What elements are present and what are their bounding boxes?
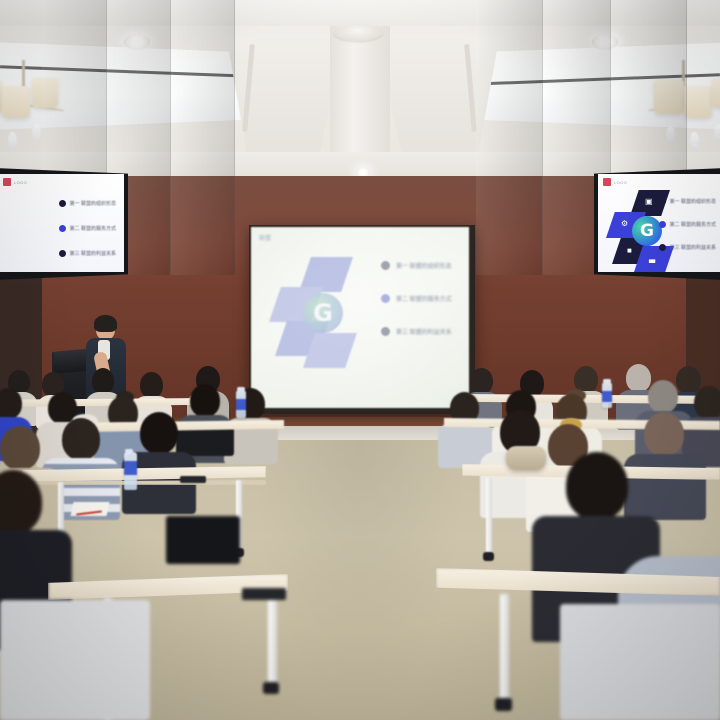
bullet-dot-icon	[659, 198, 666, 205]
slide-left-bullet-3: 第三 联盟的利益关系	[59, 250, 116, 257]
bullet-dot-icon	[59, 225, 66, 232]
conference-hall-photo: LOGO 第一 联盟的组织形态 第二 联盟的服务方式 第三 联盟的利益关系	[0, 0, 720, 720]
chandelier-crystal-l3	[32, 124, 41, 140]
desk-caster	[495, 698, 512, 711]
bottle-label	[602, 391, 612, 402]
slide-right-bullet-1: 第一 联盟的组织形态	[659, 198, 716, 205]
slide-left-logo-text: LOGO	[14, 180, 27, 185]
slide-left-bullet-2-text: 第二 联盟的服务方式	[70, 225, 116, 232]
bullet-dot-icon	[381, 261, 390, 270]
attendee-head	[62, 418, 100, 460]
chair-panel	[560, 604, 720, 720]
bullet-dot-icon	[381, 294, 390, 303]
chandelier-crystal-r2	[690, 132, 699, 148]
chandelier-crystal-l2	[8, 132, 17, 148]
presenter-hair	[94, 315, 117, 332]
desk-leg	[268, 592, 277, 688]
projection-hexagon-top	[299, 257, 353, 292]
water-bottle	[124, 452, 137, 490]
slide-right-logo: LOGO	[603, 178, 627, 186]
lock-icon: ■	[627, 247, 632, 255]
bullet-dot-icon	[659, 244, 666, 251]
slide-right-bullet-2: 第二 联盟的服务方式	[659, 221, 716, 228]
slide-right-bullet-2-text: 第二 联盟的服务方式	[670, 221, 716, 228]
projection-brand-g-logo: G	[303, 293, 343, 333]
projection-bullet-1: 第一 联盟的组织形态	[381, 261, 452, 270]
attendee-head	[648, 380, 678, 413]
projection-slide-title: 联盟	[259, 233, 271, 242]
desk-caster	[483, 552, 494, 561]
attendee-head	[0, 388, 22, 419]
water-bottle	[236, 390, 246, 418]
bar-chart-icon: ▃	[649, 255, 655, 263]
slide-right: LOGO ▣ ⚙ ■ ▃ G	[598, 174, 720, 272]
slide-left: LOGO 第一 联盟的组织形态 第二 联盟的服务方式 第三 联盟的利益关系	[0, 174, 124, 272]
attendee-head	[626, 364, 651, 392]
logo-mark-icon	[3, 178, 11, 186]
display-right[interactable]: LOGO ▣ ⚙ ■ ▃ G	[594, 168, 720, 280]
slide-left-bullet-3-text: 第三 联盟的利益关系	[70, 250, 116, 257]
attendee-head	[190, 384, 220, 417]
slide-right-bullet-1-text: 第一 联盟的组织形态	[670, 198, 716, 205]
chair-back	[166, 516, 240, 564]
attendee-torso	[624, 454, 706, 520]
attendee-head	[92, 368, 114, 394]
slide-left-logo: LOGO	[3, 178, 27, 186]
bullet-dot-icon	[659, 221, 666, 228]
slide-right-logo-text: LOGO	[614, 180, 627, 185]
attendee-head	[644, 412, 684, 456]
slide-left-bullets: 第一 联盟的组织形态 第二 联盟的服务方式 第三 联盟的利益关系	[59, 200, 116, 257]
desk-caster	[263, 682, 279, 694]
slide-right-bullet-3-text: 第三 联盟的利益关系	[670, 244, 716, 251]
bullet-dot-icon	[59, 250, 66, 257]
bottle-label	[124, 461, 137, 475]
desk-leg	[500, 594, 509, 704]
phone	[180, 476, 206, 483]
attendee-head	[676, 366, 701, 394]
bullet-dot-icon	[381, 327, 390, 336]
projection-bullet-2-text: 第二 联盟的服务方式	[396, 294, 452, 303]
attendee-head	[694, 386, 720, 419]
handbag	[506, 446, 546, 470]
attendee-head	[140, 372, 163, 398]
brand-g-logo: G	[632, 216, 662, 246]
bottle-label	[236, 399, 246, 410]
display-right-screen: LOGO ▣ ⚙ ■ ▃ G	[598, 174, 720, 272]
slide-left-bullet-1: 第一 联盟的组织形态	[59, 200, 116, 207]
smoke-detector-icon	[334, 25, 382, 41]
attendee-head	[566, 452, 628, 520]
slide-left-bullet-2: 第二 联盟的服务方式	[59, 225, 116, 232]
slide-right-bullet-3: 第三 联盟的利益关系	[659, 244, 716, 251]
projection-bullet-3-text: 第三 联盟的利益关系	[396, 327, 452, 336]
water-bottle	[602, 382, 612, 408]
chandelier-crystal-r3	[714, 124, 720, 140]
attendee-head	[470, 368, 493, 394]
bottle-cap	[125, 449, 133, 453]
attendee-head	[0, 426, 40, 470]
desk-leg	[486, 478, 492, 554]
chandelier-shade-r3	[712, 78, 720, 108]
projection-bullet-3: 第三 联盟的利益关系	[381, 327, 452, 336]
slide-left-bullet-1-text: 第一 联盟的组织形态	[70, 200, 116, 207]
chat-icon: ▣	[645, 198, 653, 206]
display-left[interactable]: LOGO 第一 联盟的组织形态 第二 联盟的服务方式 第三 联盟的利益关系	[0, 168, 128, 280]
chair-panel	[0, 600, 150, 720]
projection-bullet-2: 第二 联盟的服务方式	[381, 294, 452, 303]
bottle-cap	[237, 387, 245, 391]
gear-icon: ⚙	[621, 220, 628, 228]
bullet-dot-icon	[59, 200, 66, 207]
projection-hex-diagram: G	[269, 257, 369, 369]
chandelier-rod-left	[22, 60, 25, 86]
chandelier-shade-r2	[684, 86, 712, 118]
phone	[242, 588, 286, 600]
projection-bullets: 第一 联盟的组织形态 第二 联盟的服务方式 第三 联盟的利益关系	[381, 261, 452, 336]
projection-screen: 联盟 G 第一 联盟的组织形态 第二 联盟的服务方式 第三 联盟的利益关系	[251, 227, 469, 408]
display-left-screen: LOGO 第一 联盟的组织形态 第二 联盟的服务方式 第三 联盟的利益关系	[0, 174, 124, 272]
slide-right-bullets: 第一 联盟的组织形态 第二 联盟的服务方式 第三 联盟的利益关系	[659, 198, 716, 251]
projection-bullet-1-text: 第一 联盟的组织形态	[396, 261, 452, 270]
logo-mark-icon	[603, 178, 611, 186]
chandelier-shade-l2	[2, 86, 30, 118]
attendee-head	[140, 412, 178, 454]
bottle-cap	[603, 379, 611, 383]
